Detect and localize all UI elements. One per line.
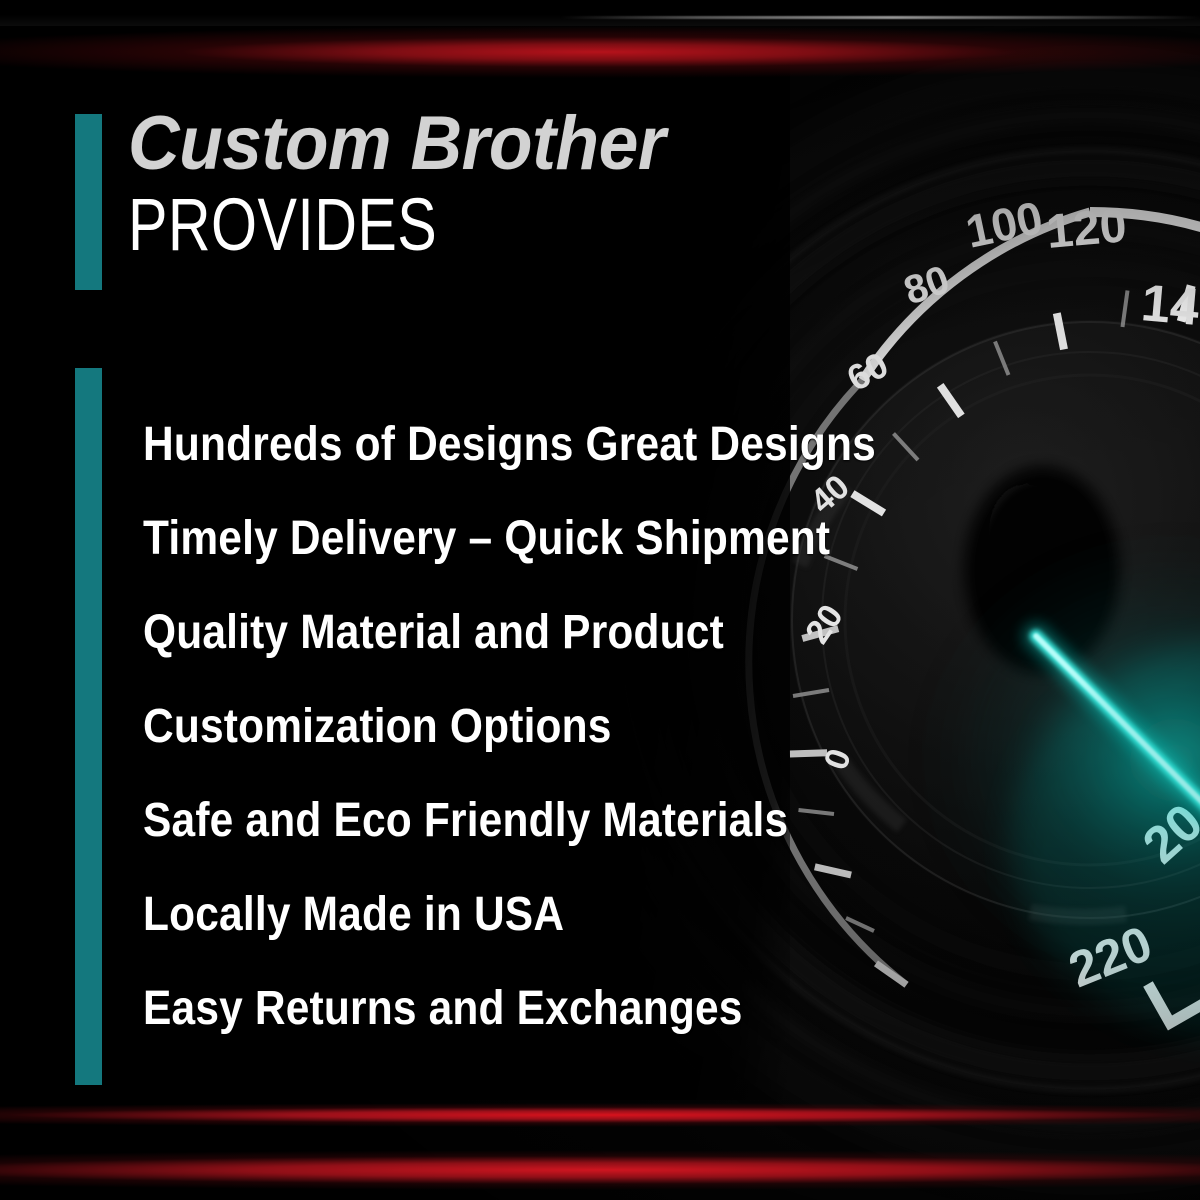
list-item: Locally Made in USA: [143, 868, 709, 962]
page-title: PROVIDES: [128, 188, 640, 262]
brand-name: Custom Brother: [128, 108, 730, 180]
list-item: Timely Delivery – Quick Shipment: [143, 492, 709, 586]
list-item: Quality Material and Product: [143, 586, 709, 680]
list-item: Easy Returns and Exchanges: [143, 962, 709, 1056]
feature-list: Hundreds of Designs Great Designs Timely…: [143, 398, 783, 1056]
content-column: Custom Brother PROVIDES Hundreds of Desi…: [0, 0, 790, 1200]
accent-bar-heading: [75, 114, 102, 290]
heading-block: Custom Brother PROVIDES: [128, 108, 768, 262]
list-item: Customization Options: [143, 680, 709, 774]
accent-bar-list: [75, 368, 102, 1085]
svg-text:140: 140: [1139, 274, 1200, 339]
slide-canvas: 0 20 40 60 80 100 120 140 20 220: [0, 0, 1200, 1200]
list-item: Safe and Eco Friendly Materials: [143, 774, 709, 868]
svg-text:120: 120: [1044, 199, 1128, 259]
list-item: Hundreds of Designs Great Designs: [143, 398, 709, 492]
